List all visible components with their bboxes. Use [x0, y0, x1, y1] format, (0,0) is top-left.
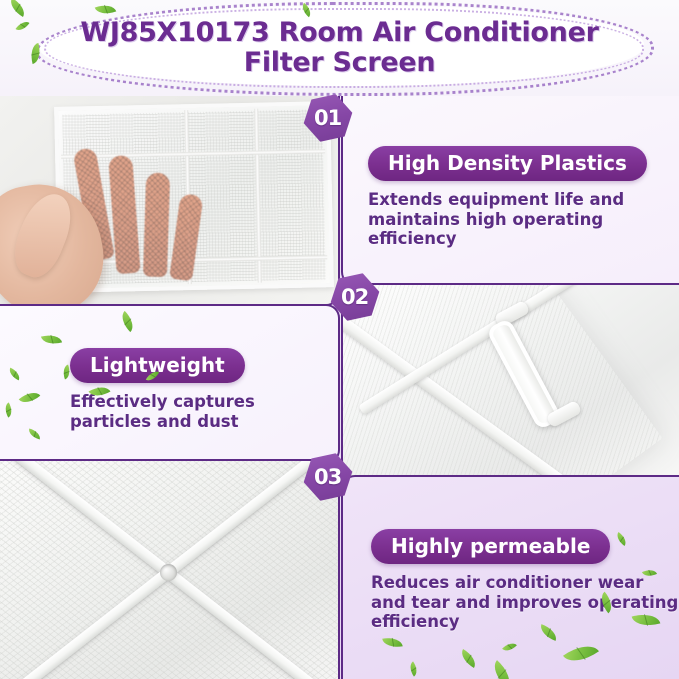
feature-1-heading: High Density Plastics — [368, 146, 647, 181]
title-banner: WJ85X10173 Room Air Conditioner Filter S… — [0, 0, 679, 96]
leaf-decoration — [41, 332, 62, 348]
rib-center-hub — [160, 564, 177, 581]
title-line-2: Filter Screen — [0, 48, 679, 78]
feature-photo-3 — [0, 459, 340, 679]
feature-text-1: High Density Plastics Extends equipment … — [341, 96, 679, 286]
leaf-decoration — [7, 0, 29, 17]
feature-text-2: Lightweight Effectively captures particl… — [0, 304, 340, 464]
leaf-decoration — [563, 637, 599, 669]
leaf-decoration — [502, 640, 517, 655]
infographic-root: WJ85X10173 Room Air Conditioner Filter S… — [0, 0, 679, 679]
feature-photo-2 — [341, 283, 679, 479]
feature-3-heading: Highly permeable — [371, 529, 610, 564]
feature-2-heading: Lightweight — [70, 348, 245, 383]
finger-through-mesh — [143, 172, 170, 277]
leaf-decoration — [2, 402, 15, 417]
feature-photo-1 — [0, 96, 340, 306]
leaf-decoration — [19, 387, 41, 408]
leaf-decoration — [27, 428, 42, 439]
leaf-decoration — [7, 368, 22, 381]
badge-number: 02 — [341, 285, 368, 309]
leaf-decoration — [458, 649, 480, 668]
leaf-decoration — [406, 661, 420, 676]
feature-2-description: Effectively captures particles and dust — [70, 392, 338, 431]
badge-number: 03 — [314, 465, 341, 489]
leaf-decoration — [95, 1, 117, 18]
page-title: WJ85X10173 Room Air Conditioner Filter S… — [0, 18, 679, 78]
feature-text-3: Highly permeable Reduces air conditioner… — [341, 475, 679, 679]
feature-2-block: Lightweight Effectively captures particl… — [70, 348, 338, 431]
leaf-decoration — [382, 635, 403, 649]
title-line-1: WJ85X10173 Room Air Conditioner — [0, 18, 679, 48]
feature-3-description: Reduces air conditioner wear and tear an… — [371, 573, 679, 632]
leaf-decoration — [488, 660, 517, 679]
leaf-decoration — [117, 311, 138, 332]
feature-1-description: Extends equipment life and maintains hig… — [368, 190, 679, 249]
badge-number: 01 — [314, 106, 341, 130]
feature-1-block: High Density Plastics Extends equipment … — [368, 146, 679, 249]
